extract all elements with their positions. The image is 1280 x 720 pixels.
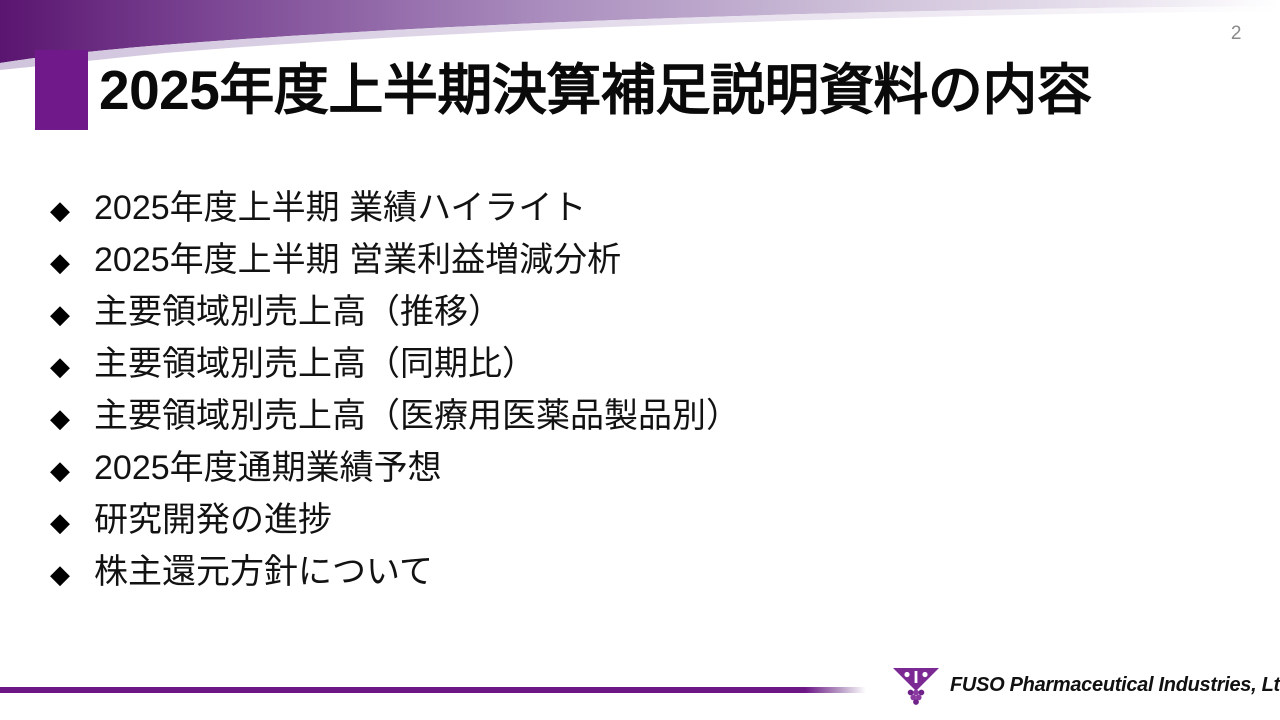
company-logo: FUSO Pharmaceutical Industries, Ltd. [890, 662, 1280, 708]
list-item: ◆ 株主還元方針について [50, 546, 1230, 598]
list-item-label: 研究開発の進捗 [94, 494, 332, 546]
diamond-bullet-icon: ◆ [50, 444, 94, 496]
diamond-bullet-icon: ◆ [50, 548, 94, 600]
diamond-bullet-icon: ◆ [50, 392, 94, 444]
list-item-label: 主要領域別売上高（推移） [94, 286, 502, 338]
diamond-bullet-icon: ◆ [50, 236, 94, 288]
diamond-bullet-icon: ◆ [50, 184, 94, 236]
list-item: ◆ 研究開発の進捗 [50, 494, 1230, 546]
list-item: ◆ 2025年度通期業績予想 [50, 442, 1230, 494]
fuso-grape-triangle-icon [890, 665, 942, 705]
list-item-label: 2025年度通期業績予想 [94, 442, 442, 494]
slide-canvas: 2 2025年度上半期決算補足説明資料の内容 ◆ 2025年度上半期 業績ハイラ… [0, 0, 1280, 720]
list-item-label: 2025年度上半期 業績ハイライト [94, 182, 586, 234]
list-item: ◆ 主要領域別売上高（同期比） [50, 338, 1230, 390]
title-accent-bar [35, 50, 88, 130]
list-item: ◆ 主要領域別売上高（推移） [50, 286, 1230, 338]
list-item-label: 主要領域別売上高（同期比） [94, 338, 536, 390]
list-item-label: 2025年度上半期 営業利益増減分析 [94, 234, 621, 286]
diamond-bullet-icon: ◆ [50, 340, 94, 392]
diamond-bullet-icon: ◆ [50, 496, 94, 548]
company-name: FUSO Pharmaceutical Industries, Ltd. [950, 674, 1280, 697]
footer-divider [0, 687, 866, 693]
page-title: 2025年度上半期決算補足説明資料の内容 [99, 46, 1091, 134]
page-number: 2 [1231, 24, 1242, 43]
list-item: ◆ 主要領域別売上高（医療用医薬品製品別） [50, 390, 1230, 442]
agenda-list: ◆ 2025年度上半期 業績ハイライト ◆ 2025年度上半期 営業利益増減分析… [50, 182, 1230, 598]
list-item-label: 主要領域別売上高（医療用医薬品製品別） [94, 390, 740, 442]
list-item: ◆ 2025年度上半期 業績ハイライト [50, 182, 1230, 234]
list-item-label: 株主還元方針について [94, 546, 433, 598]
list-item: ◆ 2025年度上半期 営業利益増減分析 [50, 234, 1230, 286]
slide-title-block: 2025年度上半期決算補足説明資料の内容 [0, 46, 1280, 138]
diamond-bullet-icon: ◆ [50, 288, 94, 340]
